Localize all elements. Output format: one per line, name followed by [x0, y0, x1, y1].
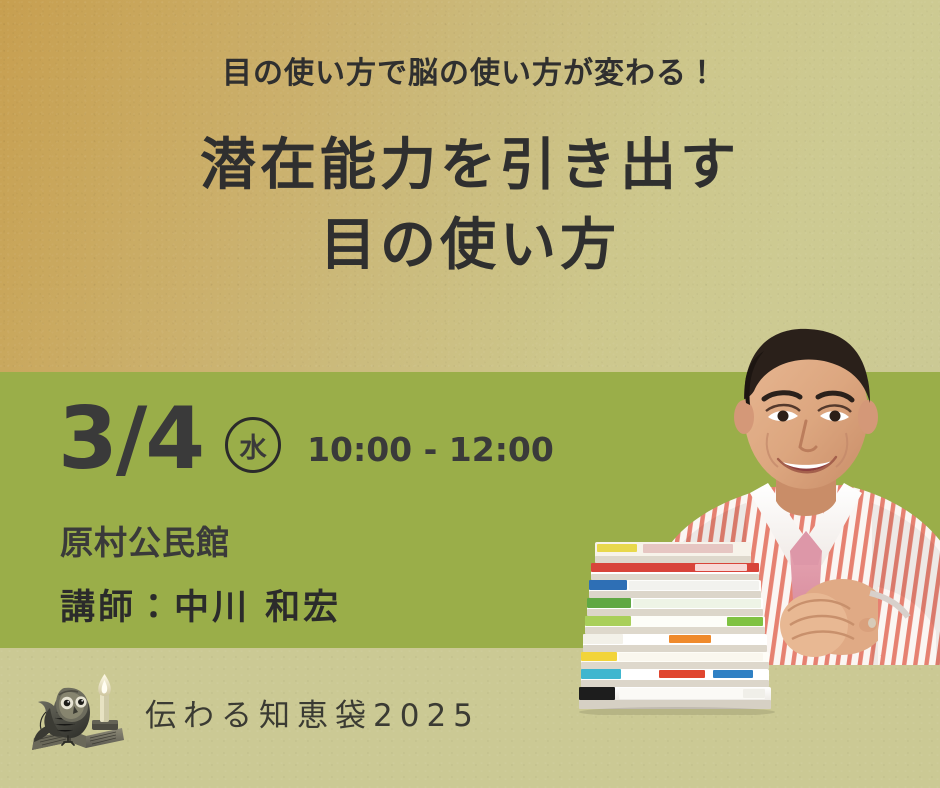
event-lecturer: 講師：中川 和宏 [60, 579, 341, 630]
poster-root: 目の使い方で脳の使い方が変わる！ 潜在能力を引き出す 目の使い方 [0, 0, 940, 788]
day-of-week-badge: 水 [225, 417, 281, 473]
title-line-2: 目の使い方 [0, 206, 940, 286]
page-title: 潜在能力を引き出す 目の使い方 [0, 126, 940, 285]
event-info-block: 3/4 水 10:00 - 12:00 原村公民館 講師：中川 和宏 [0, 372, 600, 648]
date-row: 3/4 水 10:00 - 12:00 [58, 400, 554, 479]
event-time: 10:00 - 12:00 [307, 430, 554, 469]
title-line-1: 潜在能力を引き出す [0, 126, 940, 206]
event-venue: 原村公民館 [60, 516, 230, 564]
stacked-books [573, 540, 781, 715]
owl-reading-icon [26, 668, 131, 756]
brand-footer: 伝わる知恵袋2025 [26, 668, 480, 756]
event-date: 3/4 [58, 400, 203, 479]
poster-subtitle: 目の使い方で脳の使い方が変わる！ [0, 48, 940, 92]
brand-name: 伝わる知恵袋2025 [145, 690, 480, 735]
